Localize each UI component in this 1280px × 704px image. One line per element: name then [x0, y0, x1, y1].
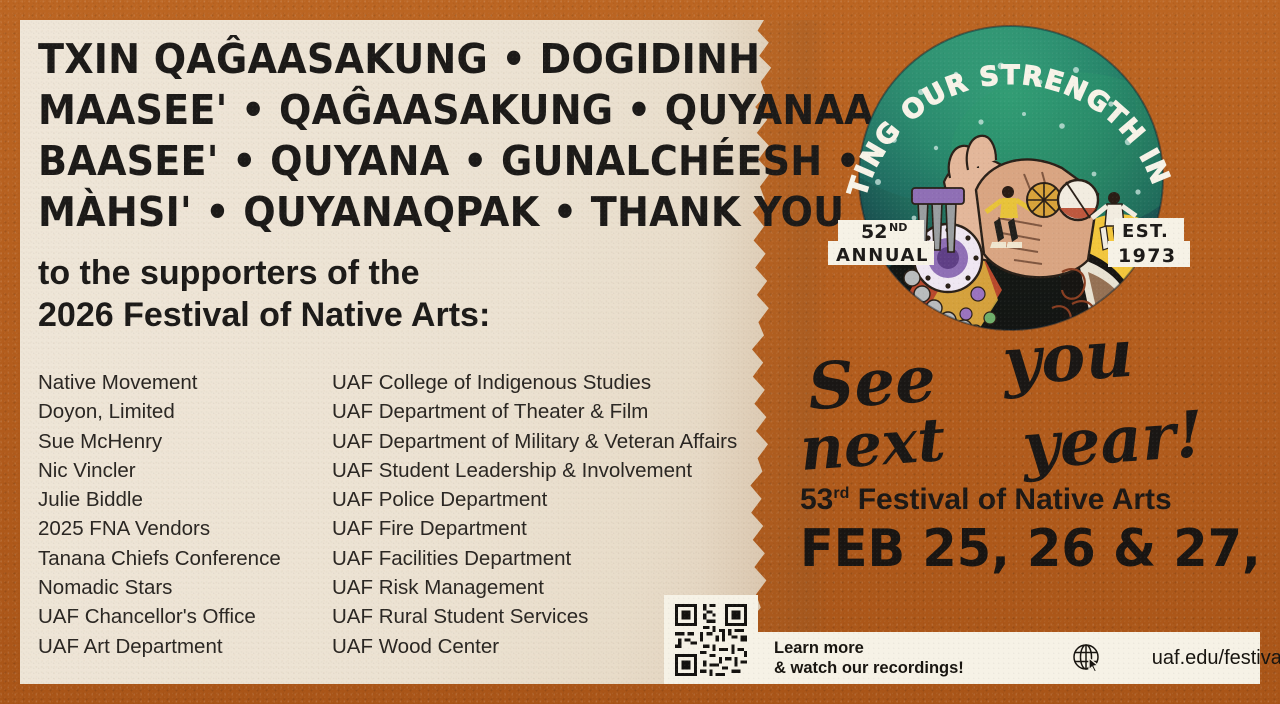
wheel-motif — [1027, 183, 1061, 217]
festival-dates: FEB 25, 26 & 27, 2027 — [800, 521, 1280, 577]
learn-more-text: Learn more & watch our recordings! — [774, 638, 964, 678]
script-you: you — [1000, 314, 1135, 401]
learn-more-line-2: & watch our recordings! — [774, 658, 964, 678]
headline-line-3: BAASEE' • QUYANA • GUNALCHÉESH • BASI' — [38, 136, 680, 187]
list-item: Native Movement — [38, 368, 281, 397]
svg-text:52: 52 — [861, 221, 887, 243]
badge-52nd-annual: 52 ND ANNUAL — [828, 220, 934, 266]
list-item: Nomadic Stars — [38, 573, 281, 602]
subheadline: to the supporters of the 2026 Festival o… — [38, 252, 728, 336]
festival-url[interactable]: uaf.edu/festival — [1152, 647, 1280, 670]
script-year: year! — [1020, 397, 1206, 484]
drum-motif — [1058, 180, 1098, 220]
list-item: Sue McHenry — [38, 427, 281, 456]
badge-est-1973: EST. 1973 — [1108, 218, 1190, 267]
list-item: UAF Department of Theater & Film — [332, 397, 737, 426]
subheadline-line-2: 2026 Festival of Native Arts: — [38, 294, 728, 336]
headline-line-1: TXIN QAĜAASAKUNG • DOGIDINH — [38, 34, 680, 85]
list-item: Doyon, Limited — [38, 397, 281, 426]
script-next: next — [798, 405, 948, 485]
supporter-list-left: Native Movement Doyon, Limited Sue McHen… — [38, 368, 281, 661]
list-item: UAF Facilities Department — [332, 544, 737, 573]
festival-ordinal: rd — [833, 485, 849, 502]
list-item: UAF Student Leadership & Involvement — [332, 456, 737, 485]
svg-text:ND: ND — [889, 221, 907, 234]
list-item: Tanana Chiefs Conference — [38, 544, 281, 573]
script-line-2: next year! — [798, 405, 948, 485]
see-you-next-year-script: See you next year! — [800, 352, 1230, 482]
thank-you-headline: TXIN QAĜAASAKUNG • DOGIDINH MAASEE' • QA… — [38, 34, 680, 238]
list-item: UAF College of Indigenous Studies — [332, 368, 737, 397]
festival-number: 53 — [800, 483, 833, 516]
list-item: UAF Art Department — [38, 632, 281, 661]
headline-line-4: MÀHSI' • QUYANAQPAK • THANK YOU — [38, 187, 680, 238]
globe-cursor-icon — [1070, 641, 1104, 675]
info-bar: Learn more & watch our recordings! uaf.e… — [758, 632, 1260, 684]
learn-more-line-1: Learn more — [774, 638, 964, 658]
list-item: UAF Police Department — [332, 485, 737, 514]
list-item: UAF Department of Military & Veteran Aff… — [332, 427, 737, 456]
subheadline-line-1: to the supporters of the — [38, 252, 728, 294]
headline-line-2: MAASEE' • QAĜAASAKUNG • QUYANAA — [38, 85, 680, 136]
qr-code-box[interactable] — [664, 595, 758, 684]
festival-name: Festival of Native Arts — [858, 483, 1172, 516]
next-festival-title: 53rd Festival of Native Arts — [800, 483, 1172, 517]
list-item: Nic Vincler — [38, 456, 281, 485]
festival-logo: ELEVATING OUR STRENGTH IN UNITY 52 ND AN… — [826, 22, 1196, 334]
poster-canvas: TXIN QAĜAASAKUNG • DOGIDINH MAASEE' • QA… — [0, 0, 1280, 704]
svg-text:EST.: EST. — [1122, 221, 1169, 242]
list-item: UAF Chancellor's Office — [38, 602, 281, 631]
qr-code-icon — [672, 601, 750, 679]
list-item: Julie Biddle — [38, 485, 281, 514]
list-item: UAF Fire Department — [332, 514, 737, 543]
svg-text:ANNUAL: ANNUAL — [836, 245, 929, 266]
svg-text:1973: 1973 — [1118, 245, 1176, 267]
list-item: 2025 FNA Vendors — [38, 514, 281, 543]
